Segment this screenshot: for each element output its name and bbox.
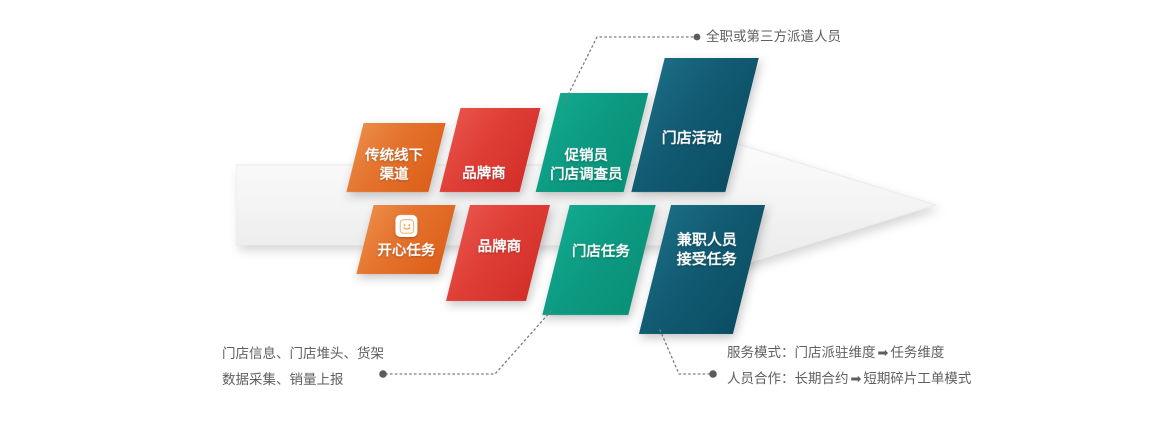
step-label-line: 渠道 — [380, 165, 409, 184]
diagram-canvas: 传统线下 渠道 品牌商 促销员 门店调查员 门店活动 — [0, 0, 1150, 430]
right-arrow-icon: ➡ — [849, 372, 864, 387]
staffing-note: 全职或第三方派遣人员 — [706, 24, 841, 50]
step-label-line: 门店调查员 — [550, 165, 623, 184]
step-label-line: 门店任务 — [572, 243, 630, 262]
note-from: 长期合约 — [795, 371, 849, 387]
note-label: 人员合作： — [727, 371, 795, 387]
step-label-line: 传统线下 — [365, 147, 423, 166]
note-to: 任务维度 — [890, 345, 944, 361]
note-line-staff-cooperation: 人员合作：长期合约➡短期碎片工单模式 — [727, 366, 971, 392]
step-new-happy-task[interactable]: 开心任务 — [356, 205, 455, 274]
step-label-line: 开心任务 — [377, 242, 435, 261]
model-shift-note: 服务模式：门店派驻维度➡任务维度 人员合作：长期合约➡短期碎片工单模式 — [727, 340, 971, 393]
step-traditional-channel[interactable]: 传统线下 渠道 — [346, 123, 445, 192]
connector-data-collection — [375, 305, 565, 385]
step-label-line: 品牌商 — [462, 165, 506, 184]
note-line: 门店信息、门店堆头、货架 — [222, 341, 384, 367]
note-line: 全职或第三方派遣人员 — [706, 24, 841, 50]
step-label-line: 促销员 — [565, 147, 609, 166]
note-to: 短期碎片工单模式 — [863, 371, 971, 387]
right-arrow-icon: ➡ — [876, 346, 891, 361]
step-label-line: 品牌商 — [478, 238, 522, 257]
step-label-line: 门店活动 — [662, 129, 722, 148]
note-line: 数据采集、销量上报 — [222, 367, 384, 393]
note-label: 服务模式： — [727, 345, 795, 361]
note-line-service-model: 服务模式：门店派驻维度➡任务维度 — [727, 340, 971, 366]
data-collection-note: 门店信息、门店堆头、货架 数据采集、销量上报 — [222, 341, 384, 394]
step-label-line: 接受任务 — [677, 250, 737, 269]
smiley-app-icon — [395, 215, 417, 237]
note-from: 门店派驻维度 — [795, 345, 876, 361]
connector-model-shift — [648, 326, 738, 388]
step-label-line: 兼职人员 — [677, 231, 737, 250]
